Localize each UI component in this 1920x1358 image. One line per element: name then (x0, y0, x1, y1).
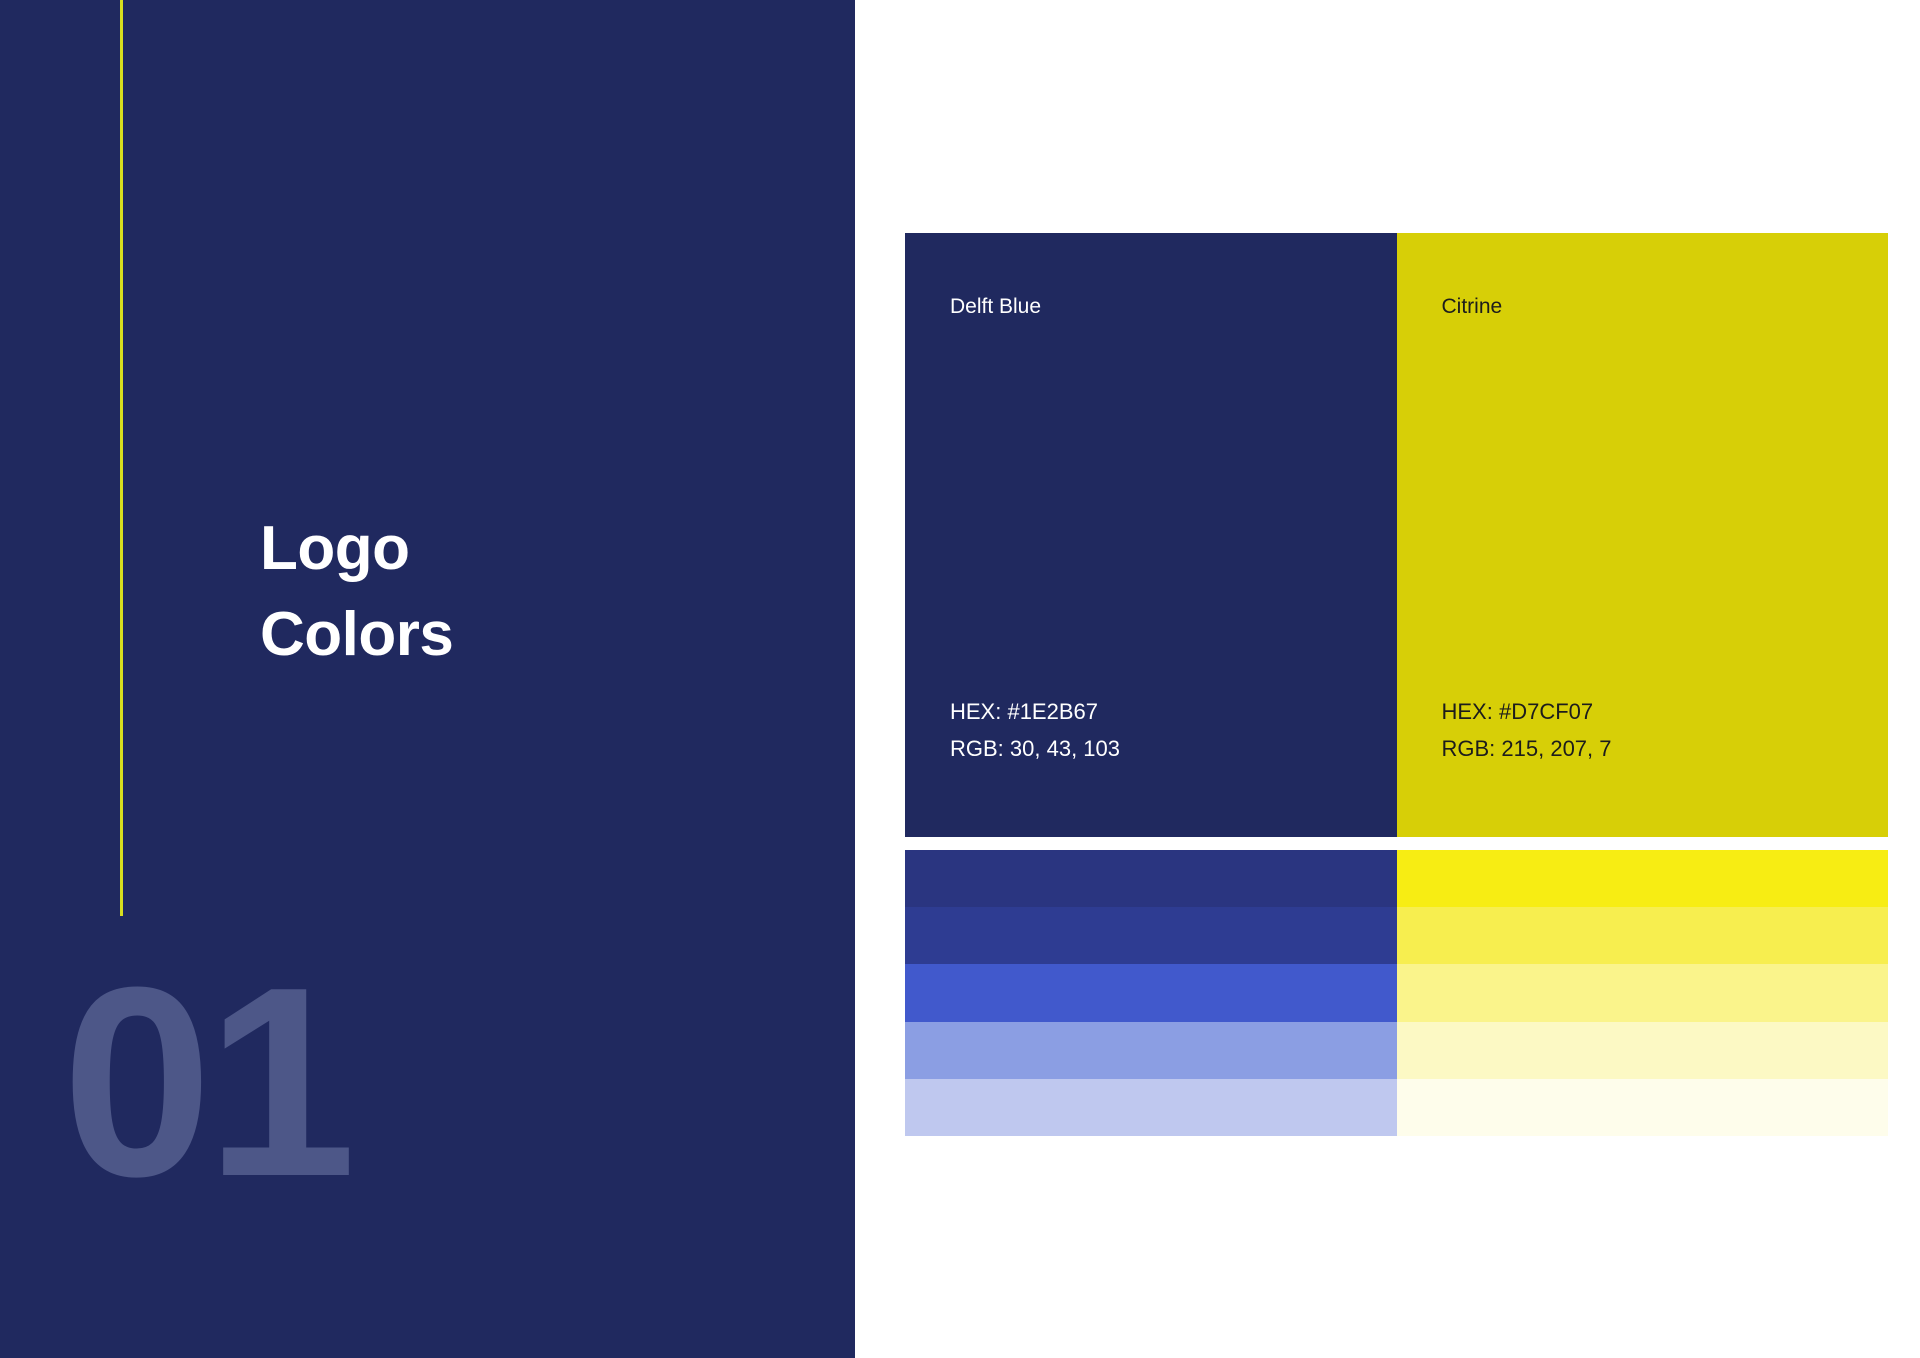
section-number: 01 (62, 968, 350, 1198)
swatch-name-delft-blue: Delft Blue (950, 296, 1397, 317)
swatch-hex-citrine: HEX: #D7CF07 (1442, 693, 1889, 730)
title-line-2: Colors (260, 592, 780, 678)
tint-swatch[interactable] (905, 964, 1397, 1021)
tint-column-citrine (1397, 850, 1889, 1136)
swatch-values-citrine: HEX: #D7CF07 RGB: 215, 207, 7 (1442, 693, 1889, 767)
tint-column-delft-blue (905, 850, 1397, 1136)
swatch-citrine[interactable]: Citrine HEX: #D7CF07 RGB: 215, 207, 7 (1397, 233, 1889, 837)
swatch-hex-delft-blue: HEX: #1E2B67 (950, 693, 1397, 730)
slide-canvas: Logo Colors 01 Delft Blue HEX: #1E2B67 R… (0, 0, 1920, 1358)
left-panel: Logo Colors 01 (0, 0, 855, 1358)
tint-strips (905, 850, 1888, 1136)
color-swatch-area: Delft Blue HEX: #1E2B67 RGB: 30, 43, 103… (905, 233, 1888, 1136)
tint-swatch[interactable] (1397, 964, 1889, 1021)
tint-swatch[interactable] (1397, 1022, 1889, 1079)
tint-swatch[interactable] (905, 1022, 1397, 1079)
main-swatch-row: Delft Blue HEX: #1E2B67 RGB: 30, 43, 103… (905, 233, 1888, 837)
tint-swatch[interactable] (905, 907, 1397, 964)
tint-swatch[interactable] (905, 850, 1397, 907)
tint-swatch[interactable] (905, 1079, 1397, 1136)
swatch-values-delft-blue: HEX: #1E2B67 RGB: 30, 43, 103 (950, 693, 1397, 767)
swatch-rgb-citrine: RGB: 215, 207, 7 (1442, 730, 1889, 767)
title-line-1: Logo (260, 506, 780, 592)
swatch-delft-blue[interactable]: Delft Blue HEX: #1E2B67 RGB: 30, 43, 103 (905, 233, 1397, 837)
tint-swatch[interactable] (1397, 907, 1889, 964)
tint-swatch[interactable] (1397, 850, 1889, 907)
accent-vertical-line (120, 0, 123, 916)
tint-swatch[interactable] (1397, 1079, 1889, 1136)
swatch-rgb-delft-blue: RGB: 30, 43, 103 (950, 730, 1397, 767)
page-title: Logo Colors (260, 506, 780, 678)
swatch-name-citrine: Citrine (1442, 296, 1889, 317)
